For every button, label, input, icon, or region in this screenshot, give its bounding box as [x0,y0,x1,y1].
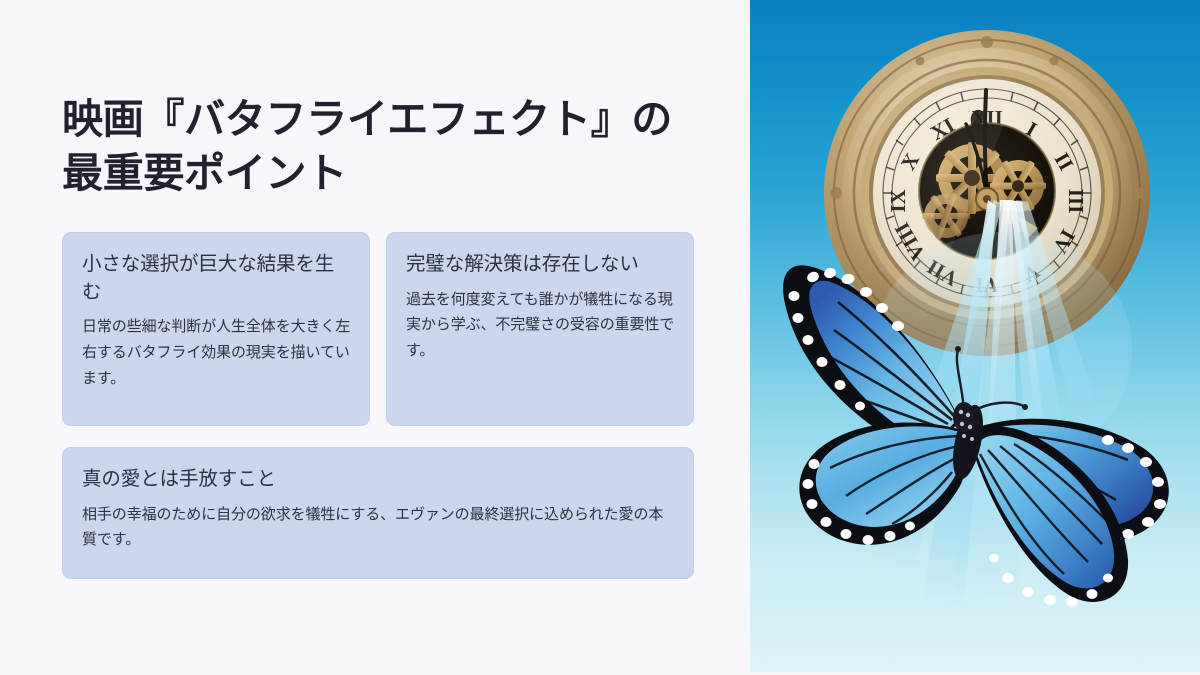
image-pane: XII I II III IV V VI VII VIII IX X XI [750,0,1200,672]
svg-text:III: III [1064,189,1088,214]
page-title: 映画『バタフライエフェクト』の最重要ポイント [62,92,702,200]
point-card-3-body: 相手の幸福のために自分の欲求を犠牲にする、エヴァンの最終選択に込められた愛の本質… [82,502,675,554]
point-card-2-body: 過去を何度変えても誰かが犠牲になる現実から学ぶ、不完璧さの受容の重要性です。 [406,287,675,364]
point-card-1-body: 日常の些細な判断が人生全体を大きく左右するバタフライ効果の現実を描いています。 [82,314,351,391]
slide-root: 映画『バタフライエフェクト』の最重要ポイント 小さな選択が巨大な結果を生む 日常… [0,0,1200,675]
cards-area: 小さな選択が巨大な結果を生む 日常の些細な判断が人生全体を大きく左右するバタフラ… [62,232,694,579]
point-card-2[interactable]: 完璧な解決策は存在しない 過去を何度変えても誰かが犠牲になる現実から学ぶ、不完璧… [386,232,694,426]
blue-butterfly-icon [772,252,1192,632]
point-card-2-heading: 完璧な解決策は存在しない [406,251,675,279]
point-card-1-heading: 小さな選択が巨大な結果を生む [82,251,351,306]
content-pane: 映画『バタフライエフェクト』の最重要ポイント 小さな選択が巨大な結果を生む 日常… [0,0,750,675]
card-row-top: 小さな選択が巨大な結果を生む 日常の些細な判断が人生全体を大きく左右するバタフラ… [62,232,694,426]
point-card-3[interactable]: 真の愛とは手放すこと 相手の幸福のために自分の欲求を犠牲にする、エヴァンの最終選… [62,447,694,579]
point-card-1[interactable]: 小さな選択が巨大な結果を生む 日常の些細な判断が人生全体を大きく左右するバタフラ… [62,232,370,426]
point-card-3-heading: 真の愛とは手放すこと [82,466,675,494]
